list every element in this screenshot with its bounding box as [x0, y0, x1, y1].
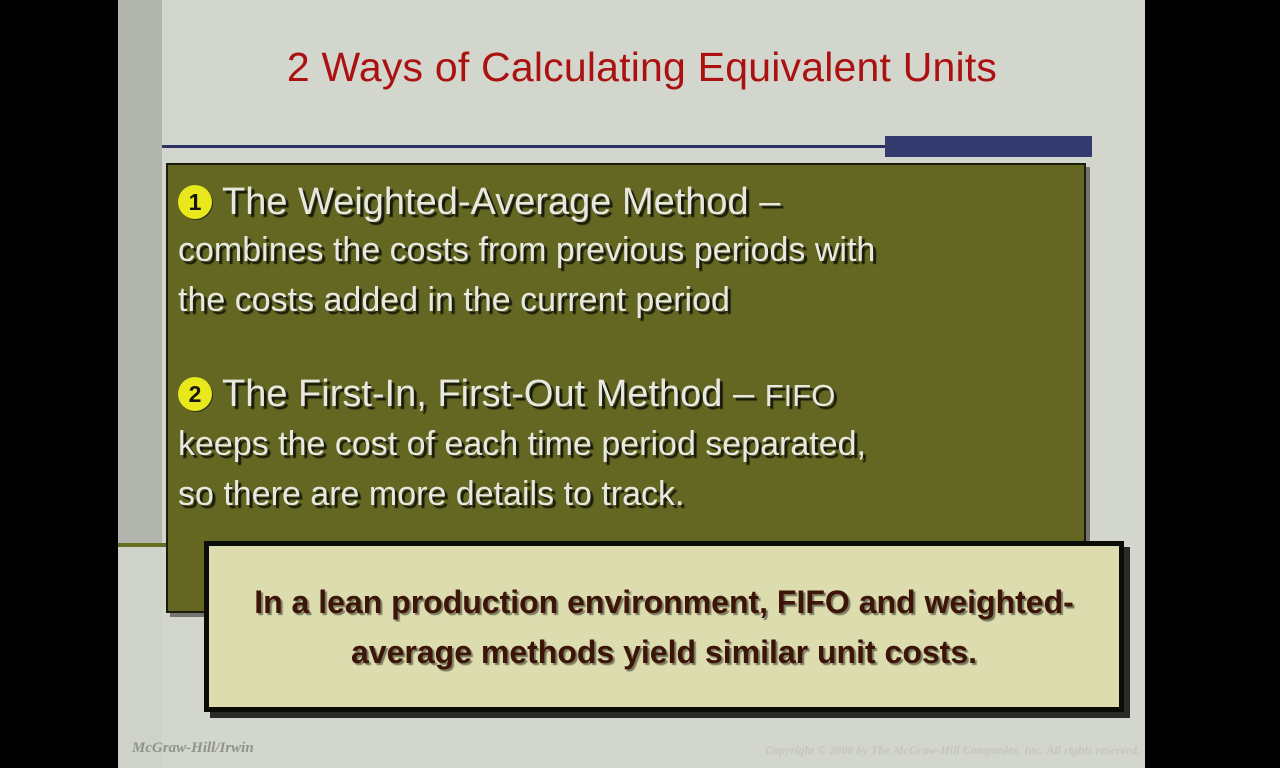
bullet-1-line-1: combines the costs from previous periods… [178, 225, 1074, 275]
bullet-1-line-2: the costs added in the current period [178, 275, 1074, 325]
lower-left-background [118, 547, 162, 768]
header-accent-block [885, 136, 1092, 157]
bullet-heading-2-suffix: FIFO [765, 378, 836, 413]
slide-title: 2 Ways of Calculating Equivalent Units [162, 44, 1122, 91]
callout-text: In a lean production environment, FIFO a… [209, 577, 1119, 677]
bullet-item-2: 2 The First-In, First-Out Method – FIFO … [168, 371, 1088, 519]
bullet-marker-2-icon: 2 [178, 377, 212, 411]
bullet-heading-row-1: 1 The Weighted-Average Method – [178, 179, 1074, 225]
bullet-item-1: 1 The Weighted-Average Method – combines… [168, 179, 1088, 325]
bullet-marker-1-icon: 1 [178, 185, 212, 219]
letterbox-right [1145, 0, 1280, 768]
footer-copyright: Copyright © 2008 by The McGraw-Hill Comp… [680, 743, 1140, 758]
bullet-2-line-2: so there are more details to track. [178, 469, 1074, 519]
left-decor-band [118, 0, 162, 545]
letterbox-left [0, 0, 118, 768]
bullet-2-line-1: keeps the cost of each time period separ… [178, 419, 1074, 469]
bullet-heading-1: The Weighted-Average Method – [222, 179, 780, 225]
callout-box: In a lean production environment, FIFO a… [204, 541, 1124, 712]
presentation-slide: 2 Ways of Calculating Equivalent Units 1… [118, 0, 1145, 768]
bullet-heading-row-2: 2 The First-In, First-Out Method – FIFO [178, 371, 1074, 419]
footer-publisher: McGraw-Hill/Irwin [132, 740, 254, 757]
bullet-heading-2: The First-In, First-Out Method – FIFO [222, 371, 835, 419]
slide-viewer: 2 Ways of Calculating Equivalent Units 1… [0, 0, 1280, 768]
bullet-heading-2-main: The First-In, First-Out Method – [222, 373, 754, 415]
